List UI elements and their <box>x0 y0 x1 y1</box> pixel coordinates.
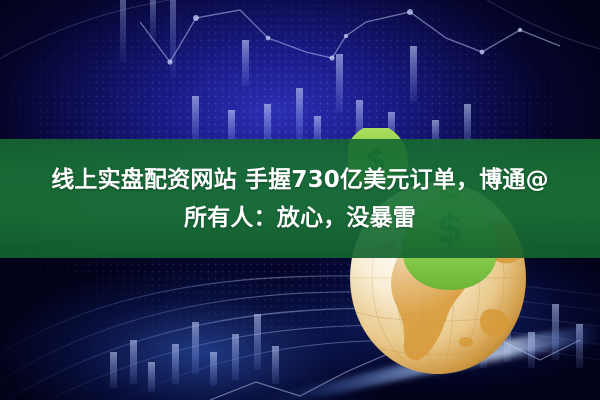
candlestick-group-lower <box>110 292 279 400</box>
news-thumbnail-banner: $ $ 线上实盘配资网站 手握730亿美元订单，博通@ 所有人：放心，没暴雷 <box>0 0 600 400</box>
headline-line-2: 所有人：放心，没暴雷 <box>184 201 416 235</box>
line-chart-upper <box>140 10 560 62</box>
headline-text: 线上实盘配资网站 手握730亿美元订单，博通@ 所有人：放心，没暴雷 <box>0 139 600 258</box>
line-chart-nodes <box>167 9 522 65</box>
headline-line-1: 线上实盘配资网站 手握730亿美元订单，博通@ <box>51 163 549 197</box>
top-arcs <box>0 0 600 70</box>
